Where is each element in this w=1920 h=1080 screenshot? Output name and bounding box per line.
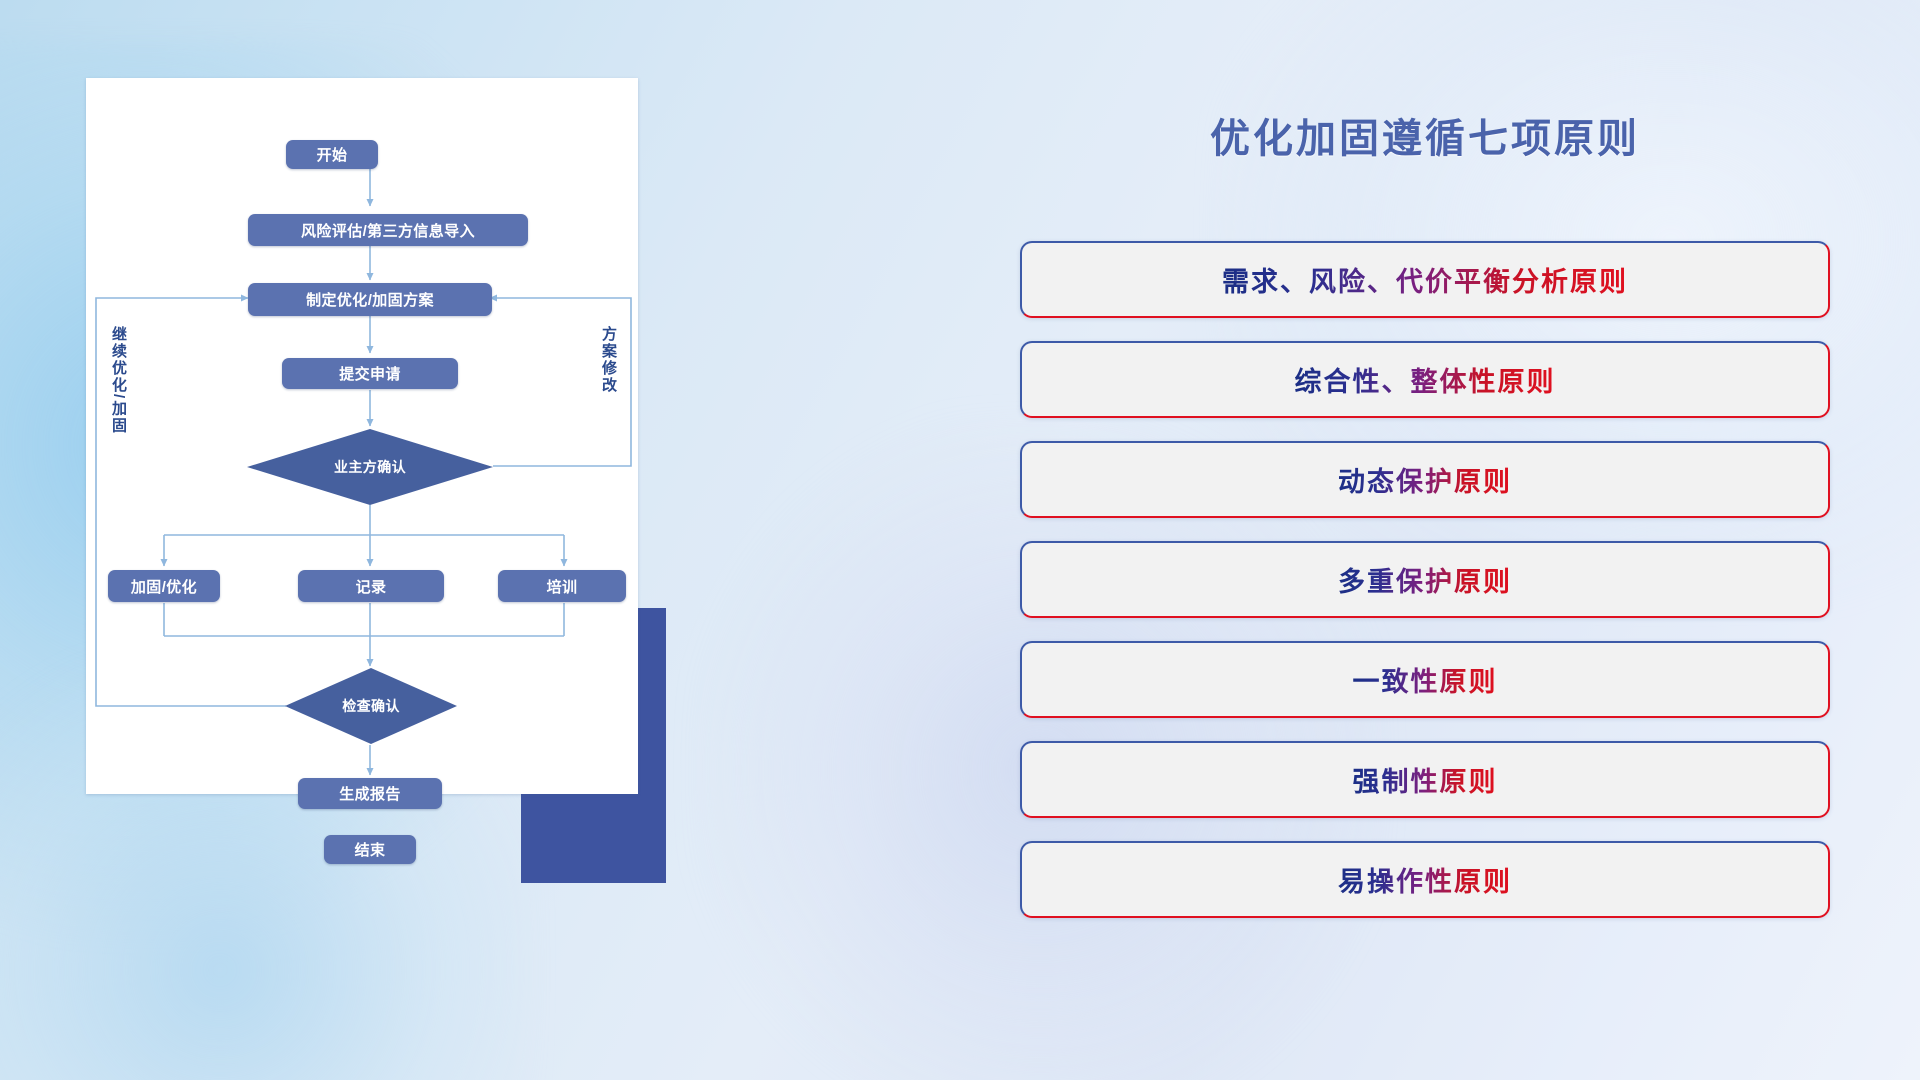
flow-node-label: 生成报告: [339, 783, 401, 804]
flow-node-label: 制定优化/加固方案: [306, 289, 434, 310]
principle-card-1[interactable]: 需求、风险、代价平衡分析原则: [1020, 241, 1830, 318]
flow-node-make-plan[interactable]: 制定优化/加固方案: [248, 283, 492, 316]
principle-label: 易操作性原则: [1338, 860, 1512, 899]
principle-card-6[interactable]: 强制性原则: [1020, 741, 1830, 818]
flow-node-reinforce-optimize[interactable]: 加固/优化: [108, 570, 220, 602]
flowchart-card: 开始 风险评估/第三方信息导入 制定优化/加固方案 提交申请 业主方确认 加固/…: [86, 78, 638, 794]
flow-node-start[interactable]: 开始: [286, 140, 378, 169]
flow-node-label: 开始: [317, 144, 348, 165]
flow-node-training[interactable]: 培训: [498, 570, 626, 602]
flow-node-label: 加固/优化: [131, 576, 197, 597]
flow-node-generate-report[interactable]: 生成报告: [298, 778, 442, 809]
principle-label: 多重保护原则: [1338, 560, 1512, 599]
flow-node-label: 记录: [356, 576, 387, 597]
flow-node-label: 风险评估/第三方信息导入: [301, 220, 475, 241]
principle-label: 综合性、整体性原则: [1295, 360, 1556, 399]
principles-panel: 优化加固遵循七项原则 需求、风险、代价平衡分析原则 综合性、整体性原则 动态保护…: [1020, 78, 1830, 1018]
principle-card-2[interactable]: 综合性、整体性原则: [1020, 341, 1830, 418]
flow-edge-label-plan-revision: 方案修改: [598, 326, 619, 394]
principles-title: 优化加固遵循七项原则: [1020, 106, 1830, 164]
principle-label: 强制性原则: [1353, 760, 1498, 799]
principles-list: 需求、风险、代价平衡分析原则 综合性、整体性原则 动态保护原则 多重保护原则 一…: [1020, 241, 1830, 941]
flow-node-check-confirm[interactable]: 检查确认: [285, 668, 457, 744]
principle-card-7[interactable]: 易操作性原则: [1020, 841, 1830, 918]
flow-edge-label-continue-optimize: 继续优化/加固: [108, 326, 129, 434]
principle-card-5[interactable]: 一致性原则: [1020, 641, 1830, 718]
flowchart-panel: 开始 风险评估/第三方信息导入 制定优化/加固方案 提交申请 业主方确认 加固/…: [86, 78, 666, 1008]
flow-node-label: 培训: [547, 576, 578, 597]
principle-card-3[interactable]: 动态保护原则: [1020, 441, 1830, 518]
flow-node-risk-assessment[interactable]: 风险评估/第三方信息导入: [248, 214, 528, 246]
flow-node-owner-confirm[interactable]: 业主方确认: [247, 429, 493, 505]
flow-node-submit-application[interactable]: 提交申请: [282, 358, 458, 389]
flow-node-end[interactable]: 结束: [324, 835, 416, 864]
flow-node-label: 检查确认: [342, 696, 400, 716]
principle-label: 需求、风险、代价平衡分析原则: [1222, 260, 1628, 299]
principle-card-4[interactable]: 多重保护原则: [1020, 541, 1830, 618]
flow-node-label: 业主方确认: [334, 457, 406, 477]
flow-node-label: 提交申请: [339, 363, 401, 384]
flow-node-label: 结束: [355, 839, 386, 860]
flow-node-record[interactable]: 记录: [298, 570, 444, 602]
principle-label: 动态保护原则: [1338, 460, 1512, 499]
principle-label: 一致性原则: [1353, 660, 1498, 699]
